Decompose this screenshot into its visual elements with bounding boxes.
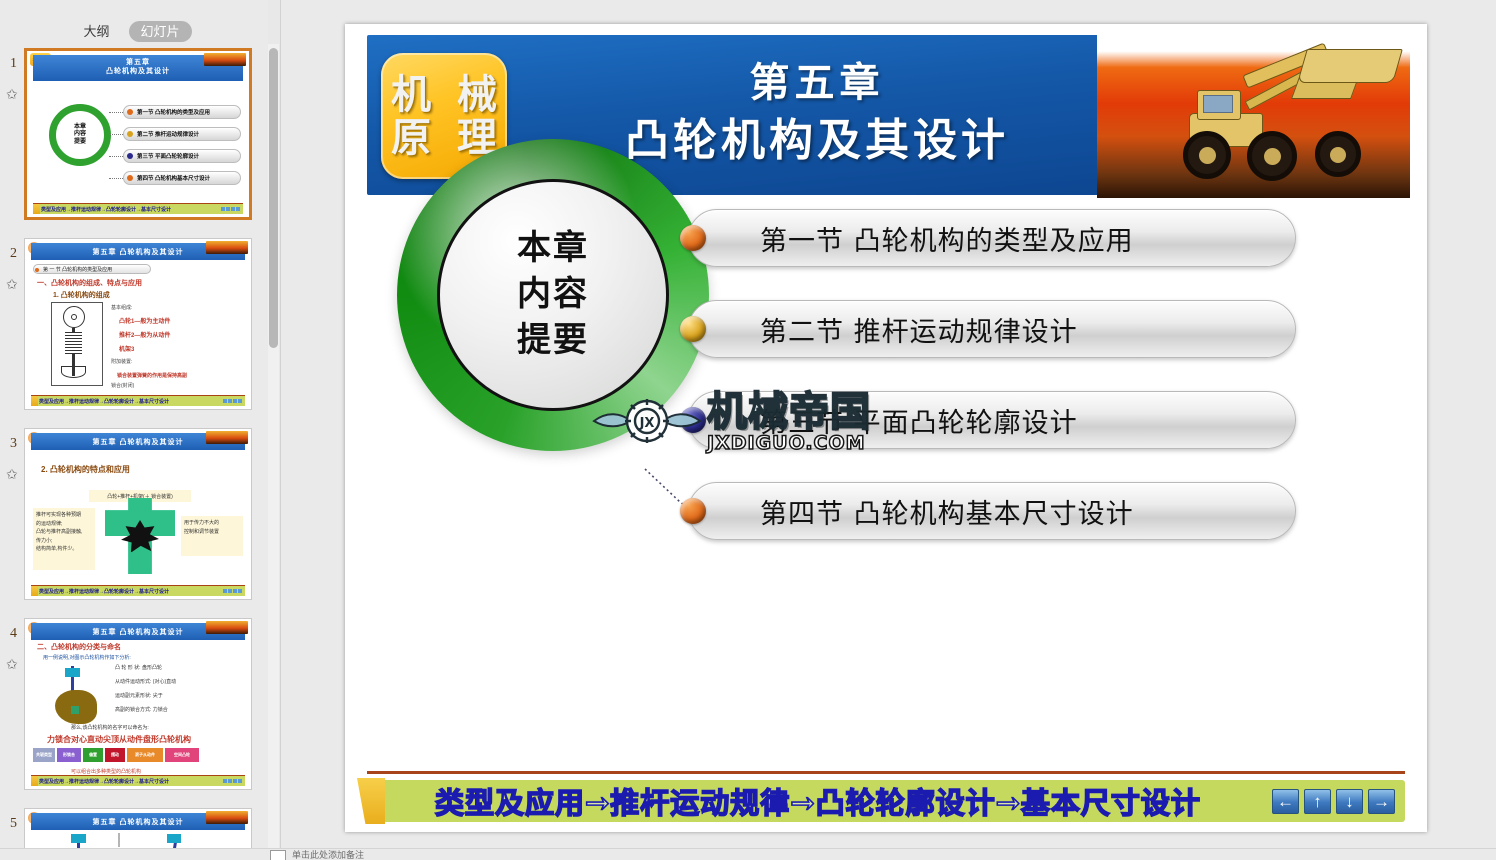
slide-stage: 机 械 原 理 第五章 凸轮机构及其设计 <box>281 0 1496 848</box>
nav-down-icon[interactable]: ↓ <box>1336 789 1363 814</box>
navigator-scrollbar[interactable] <box>268 44 279 848</box>
slide-navigator-panel: 大纲 幻灯片 1 ✩ 机械原理 第五章 凸轮机构及其设计 <box>0 0 268 848</box>
thumbnail-frame[interactable]: 机械原理 第五章 凸轮机构及其设计 本章 内容 提要 <box>24 48 252 220</box>
mini-slide-5: 第五章 凸轮机构及其设计 机械原理 机械原理 <box>25 809 251 848</box>
thumbnail-animation-star: ✩ <box>6 276 16 293</box>
watermark-en: JXDIGUO.COM <box>707 434 871 453</box>
current-slide[interactable]: 机 械 原 理 第五章 凸轮机构及其设计 <box>345 24 1427 832</box>
notes-checkbox[interactable] <box>270 850 286 860</box>
status-bar: 单击此处添加备注 <box>0 848 1496 860</box>
navigator-scrollbar-thumb[interactable] <box>269 48 278 348</box>
mini-slide-4: 第五章 凸轮机构及其设计 二、凸轮机构的分类与命名 用一例说明,对图示凸轮机构作… <box>25 619 251 789</box>
thumbnail-animation-star: ✩ <box>6 466 16 483</box>
thumbnail-animation-star: ✩ <box>6 656 16 673</box>
mini-body: 2. 凸轮机构的特点和应用 凸轮+推杆+机架(＋ 锁合装置) 推杆可实现各种预期… <box>31 452 245 585</box>
thumbnail-number: 4 <box>10 626 17 642</box>
notes-placeholder: 单击此处添加备注 <box>292 849 364 860</box>
mini-pill-2: 第二节 推杆运动规律设计 <box>123 127 241 141</box>
mini-pill-3: 第三节 平面凸轮轮廓设计 <box>123 149 241 163</box>
mini-footer: 类型及应用→推杆运动规律→凸轮轮廓设计→基本尺寸设计 <box>33 204 243 214</box>
circle-line-2: 内容 <box>517 272 589 318</box>
section-link-4[interactable]: 第四节 凸轮机构基本尺寸设计 <box>688 482 1296 540</box>
thumbnail-number: 3 <box>10 436 17 452</box>
section-label: 第四节 凸轮机构基本尺寸设计 <box>760 482 1282 540</box>
mini-body: 本章 内容 提要 第一节 凸轮机构的类型及应用 第二节 推 <box>33 74 243 203</box>
winged-gear-emblem-icon: JX <box>591 391 703 453</box>
mini-photo <box>206 241 248 254</box>
thumbnail-number: 2 <box>10 246 17 262</box>
chapter-number: 第五章 <box>527 55 1107 111</box>
powerpoint-window: 大纲 幻灯片 1 ✩ 机械原理 第五章 凸轮机构及其设计 <box>0 0 1496 860</box>
mini-ring: 本章 内容 提要 <box>49 104 111 166</box>
footer-corner-tab <box>357 778 385 824</box>
watermark-text: 机械帝国 JXDIGUO.COM <box>707 392 871 453</box>
section-link-2[interactable]: 第二节 推杆运动规律设计 <box>688 300 1296 358</box>
wheel-loader-photo <box>1097 35 1410 198</box>
nav-left-icon[interactable]: ← <box>1272 789 1299 814</box>
thumbnail-item-4[interactable]: 4 ✩ 第五章 凸轮机构及其设计 二、凸轮机构的分类与命名 用一例说明,对图示凸… <box>0 614 268 804</box>
mini-slide-1: 机械原理 第五章 凸轮机构及其设计 本章 内容 提要 <box>27 51 249 217</box>
thumbnail-item-1[interactable]: 1 ✩ 机械原理 第五章 凸轮机构及其设计 本章 内容 <box>0 44 268 234</box>
mini-pill-1: 第一节 凸轮机构的类型及应用 <box>123 105 241 119</box>
mini-slide-2: 第五章 凸轮机构及其设计 第 一 节 凸轮机构的类型及应用 一、凸轮机构的组成、… <box>25 239 251 409</box>
footer-rule <box>367 771 1405 774</box>
thumbnail-item-2[interactable]: 2 ✩ 第五章 凸轮机构及其设计 第 一 节 凸轮机构的类型及应用 一、凸轮机构… <box>0 234 268 424</box>
watermark-cn: 机械帝国 <box>707 392 871 432</box>
mini-photo <box>206 621 248 634</box>
thumbnail-frame[interactable]: 第五章 凸轮机构及其设计 二、凸轮机构的分类与命名 用一例说明,对图示凸轮机构作… <box>24 618 252 790</box>
mini-photo <box>206 431 248 444</box>
nav-right-icon[interactable]: → <box>1368 789 1395 814</box>
footer-breadcrumb: 类型及应用→推杆运动规律→凸轮轮廓设计→基本尺寸设计 <box>435 780 1201 822</box>
mini-footer: 类型及应用→推杆运动规律→凸轮轮廓设计→基本尺寸设计 <box>31 586 245 596</box>
thumbnail-frame[interactable]: 第五章 凸轮机构及其设计 第 一 节 凸轮机构的类型及应用 一、凸轮机构的组成、… <box>24 238 252 410</box>
section-bullet-icon <box>680 498 706 524</box>
mini-pill-4: 第四节 凸轮机构基本尺寸设计 <box>123 171 241 185</box>
mini-photo <box>206 811 248 824</box>
thumbnail-list[interactable]: 1 ✩ 机械原理 第五章 凸轮机构及其设计 本章 内容 <box>0 44 268 848</box>
section-link-1[interactable]: 第一节 凸轮机构的类型及应用 <box>688 209 1296 267</box>
thumbnail-number: 5 <box>10 816 17 832</box>
nav-up-icon[interactable]: ↑ <box>1304 789 1331 814</box>
section-bullet-icon <box>680 316 706 342</box>
panel-tabs: 大纲 幻灯片 <box>0 18 268 44</box>
circle-line-3: 提要 <box>517 318 589 364</box>
mini-photo <box>204 53 246 66</box>
thumbnail-item-5[interactable]: 5 ✩ 第五章 凸轮机构及其设计 机械原理 <box>0 804 268 848</box>
thumbnail-frame[interactable]: 第五章 凸轮机构及其设计 机械原理 机械原理 <box>24 808 252 848</box>
slide-footer-bar: 类型及应用→推杆运动规律→凸轮轮廓设计→基本尺寸设计 ← ↑ ↓ → <box>367 780 1405 822</box>
site-watermark: JX 机械帝国 JXDIGUO.COM <box>591 386 891 458</box>
thumbnail-frame[interactable]: 第五章 凸轮机构及其设计 2. 凸轮机构的特点和应用 凸轮+推杆+机架(＋ 锁合… <box>24 428 252 600</box>
mini-slide-3: 第五章 凸轮机构及其设计 2. 凸轮机构的特点和应用 凸轮+推杆+机架(＋ 锁合… <box>25 429 251 599</box>
mini-body: 二、凸轮机构的分类与命名 用一例说明,对图示凸轮机构作如下分析: 凸 轮 形 状… <box>31 642 245 775</box>
section-bullet-icon <box>680 225 706 251</box>
thumbnail-number: 1 <box>10 56 17 72</box>
mini-footer: 类型及应用→推杆运动规律→凸轮轮廓设计→基本尺寸设计 <box>31 396 245 406</box>
chapter-outline-circle-inner: 本章 内容 提要 <box>437 179 669 411</box>
thumbnail-animation-star: ✩ <box>6 86 16 103</box>
notes-resize-handle[interactable] <box>118 833 120 847</box>
mini-footer: 类型及应用→推杆运动规律→凸轮轮廓设计→基本尺寸设计 <box>31 776 245 786</box>
section-label: 第一节 凸轮机构的类型及应用 <box>760 209 1282 267</box>
section-label: 第二节 推杆运动规律设计 <box>760 300 1282 358</box>
svg-text:JX: JX <box>639 416 655 431</box>
thumbnail-item-3[interactable]: 3 ✩ 第五章 凸轮机构及其设计 2. 凸轮机构的特点和应用 凸轮+推杆+机架(… <box>0 424 268 614</box>
tab-outline[interactable]: 大纲 <box>76 22 116 41</box>
tab-slides[interactable]: 幻灯片 <box>129 21 192 42</box>
mini-body: 机械原理 机械原理 <box>31 832 245 848</box>
circle-line-1: 本章 <box>517 226 589 272</box>
footer-nav-buttons: ← ↑ ↓ → <box>1272 789 1395 814</box>
mini-body: 第 一 节 凸轮机构的类型及应用 一、凸轮机构的组成、特点与应用 1. 凸轮机构… <box>31 262 245 395</box>
